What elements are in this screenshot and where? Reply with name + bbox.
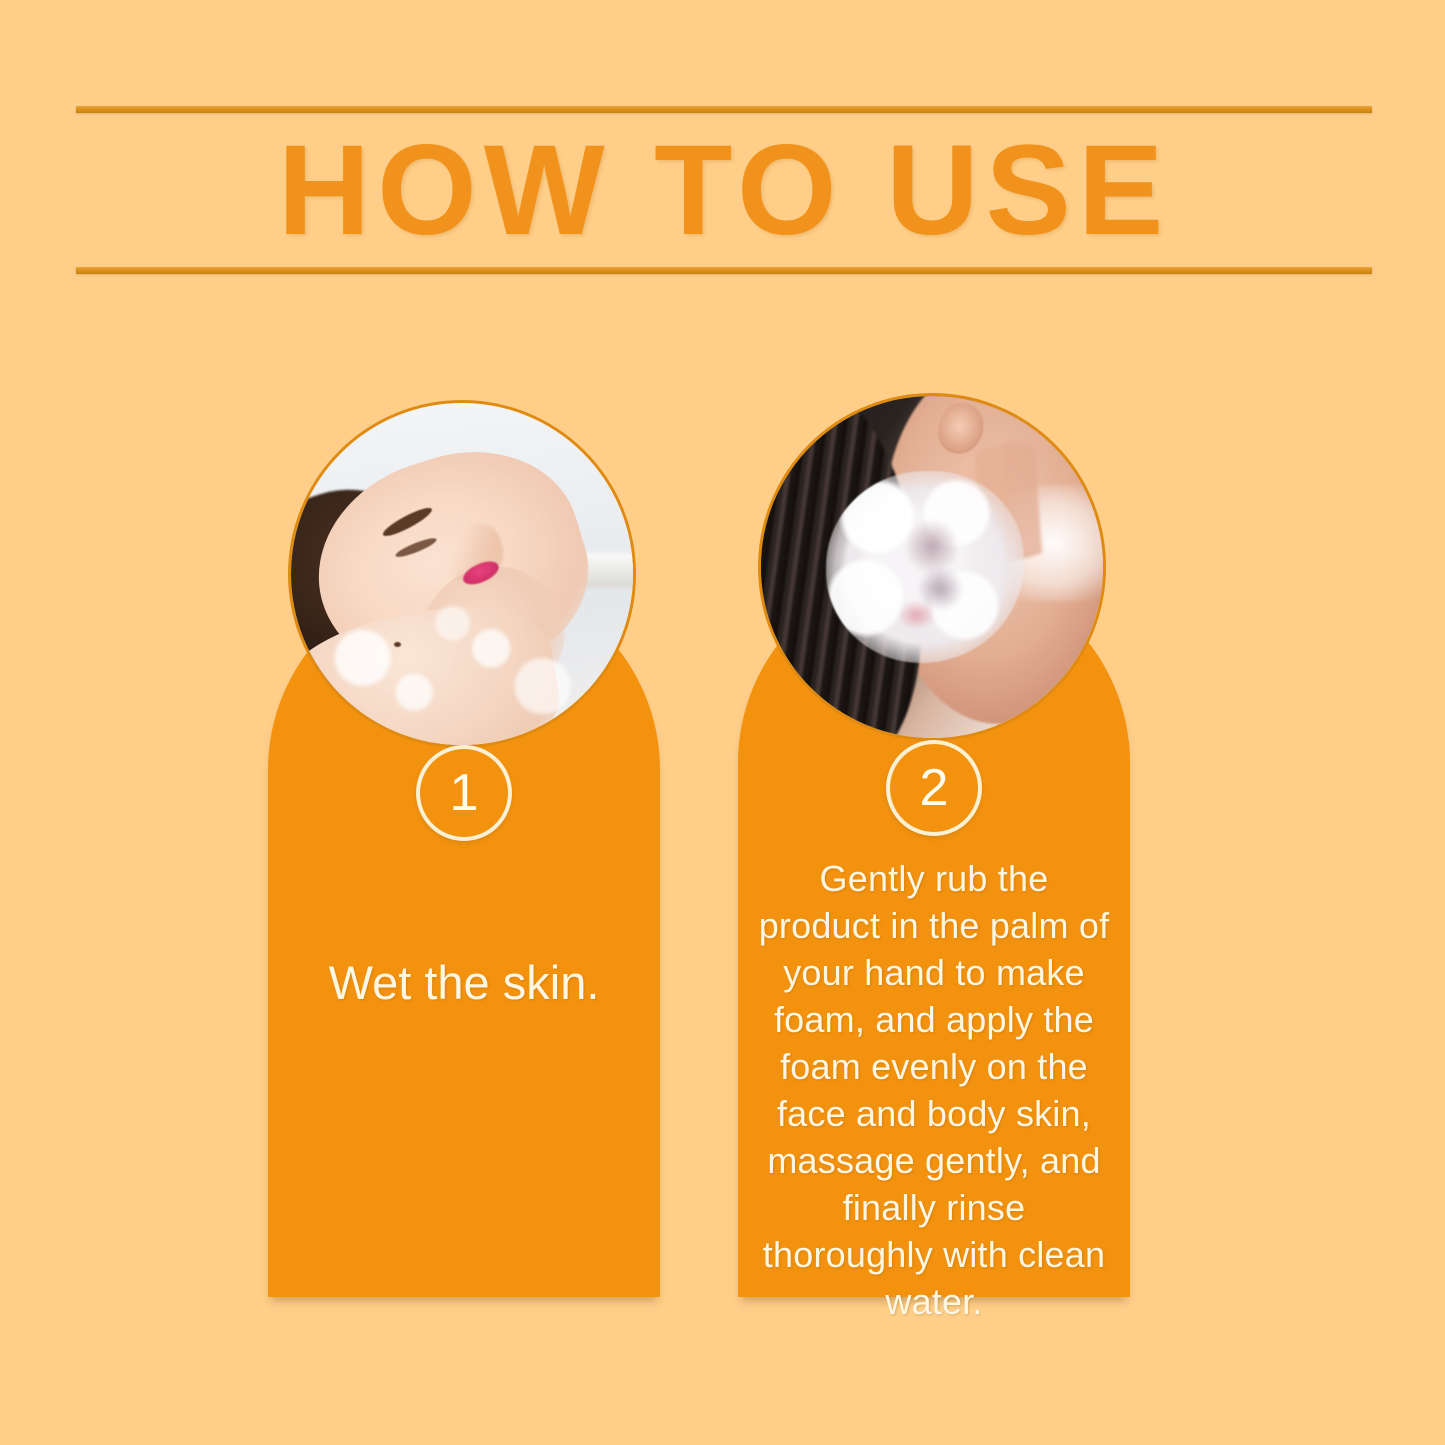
step-1-number: 1 <box>450 767 479 819</box>
step-2-photo <box>758 393 1106 741</box>
title-bottom-rule <box>76 267 1372 274</box>
page-title: HOW TO USE <box>76 120 1372 262</box>
step-1-caption: Wet the skin. <box>286 955 642 1011</box>
photo-loofah-tint <box>898 601 936 628</box>
step-2-caption: Gently rub the product in the palm of yo… <box>756 855 1112 1325</box>
step-card-2: 2 Gently rub the product in the palm of … <box>738 393 1130 1297</box>
step-1-badge: 1 <box>416 745 512 841</box>
step-1-photo <box>288 400 636 748</box>
photo-foam <box>305 595 626 748</box>
step-card-1: 1 Wet the skin. <box>268 400 660 1297</box>
photo-loofah-tint <box>905 519 960 574</box>
step-2-badge: 2 <box>886 740 982 836</box>
page-header: HOW TO USE <box>76 100 1372 280</box>
title-top-rule <box>76 106 1372 113</box>
step-2-number: 2 <box>920 762 949 814</box>
